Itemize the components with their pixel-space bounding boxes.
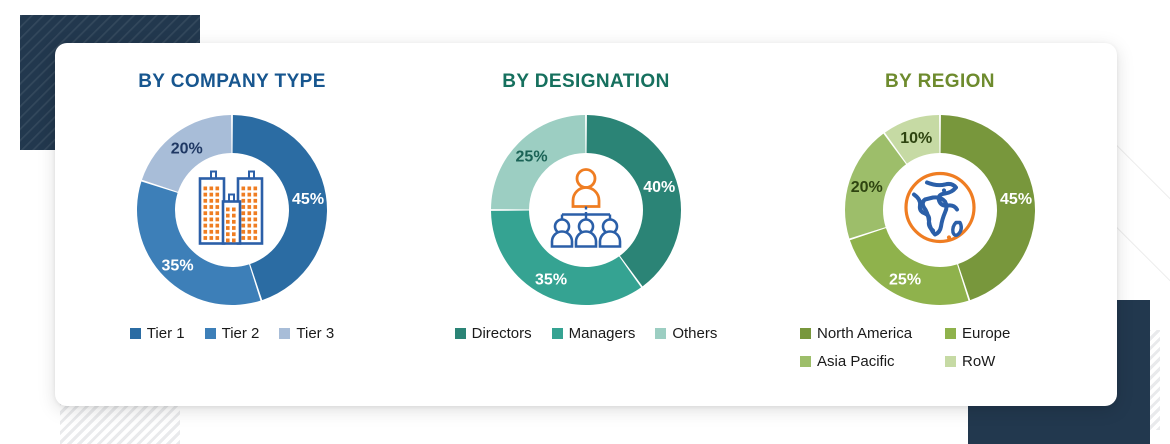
legend-swatch-icon	[945, 356, 956, 367]
legend-swatch-icon	[552, 328, 563, 339]
slice-percent-label: 40%	[643, 179, 675, 196]
legend-item[interactable]: Tier 1	[130, 325, 185, 342]
donut-slice[interactable]	[587, 115, 681, 286]
slice-percent-label: 25%	[516, 149, 548, 166]
legend-label: Asia Pacific	[817, 353, 895, 370]
legend-swatch-icon	[655, 328, 666, 339]
legend-swatch-icon	[800, 356, 811, 367]
legend-item[interactable]: RoW	[945, 353, 1080, 370]
legend-item[interactable]: Others	[655, 325, 717, 342]
chart-legend: North AmericaEuropeAsia PacificRoW	[795, 325, 1085, 370]
slice-percent-label: 35%	[162, 257, 194, 274]
chart-panel-3: BY REGION45%25%20%10% North AmericaEurop…	[763, 43, 1117, 406]
panels-row: BY COMPANY TYPE45%35%20% Tier 1Tier 2Tie…	[55, 43, 1117, 406]
panel-title: BY REGION	[885, 71, 995, 93]
slice-percent-label: 10%	[900, 130, 932, 147]
legend-swatch-icon	[455, 328, 466, 339]
legend-label: Tier 3	[296, 325, 334, 342]
slice-percent-label: 45%	[1000, 191, 1032, 208]
legend-swatch-icon	[205, 328, 216, 339]
slice-percent-label: 20%	[171, 141, 203, 158]
donut-slice[interactable]	[850, 228, 969, 305]
donut-chart: 45%35%20%	[129, 107, 335, 313]
donut-chart: 45%25%20%10%	[837, 107, 1043, 313]
legend-label: RoW	[962, 353, 995, 370]
legend-swatch-icon	[130, 328, 141, 339]
legend-swatch-icon	[279, 328, 290, 339]
infographic-canvas: BY COMPANY TYPE45%35%20% Tier 1Tier 2Tie…	[0, 0, 1170, 444]
legend-label: Tier 1	[147, 325, 185, 342]
legend-label: North America	[817, 325, 912, 342]
legend-item[interactable]: Asia Pacific	[800, 353, 935, 370]
slice-percent-label: 35%	[535, 272, 567, 289]
legend-label: Europe	[962, 325, 1010, 342]
content-card: BY COMPANY TYPE45%35%20% Tier 1Tier 2Tie…	[55, 43, 1117, 406]
legend-item[interactable]: Europe	[945, 325, 1080, 342]
slice-percent-label: 25%	[889, 272, 921, 289]
legend-item[interactable]: Directors	[455, 325, 532, 342]
chart-panel-2: BY DESIGNATION40%35%25% DirectorsManager…	[409, 43, 763, 406]
panel-title: BY DESIGNATION	[502, 71, 669, 93]
legend-label: Managers	[569, 325, 636, 342]
donut-slice[interactable]	[137, 182, 260, 305]
legend-item[interactable]: Tier 3	[279, 325, 334, 342]
donut-slice[interactable]	[491, 211, 641, 305]
legend-item[interactable]: Managers	[552, 325, 636, 342]
chart-panel-1: BY COMPANY TYPE45%35%20% Tier 1Tier 2Tie…	[55, 43, 409, 406]
donut-chart: 40%35%25%	[483, 107, 689, 313]
chart-legend: Tier 1Tier 2Tier 3	[130, 325, 334, 342]
slice-percent-label: 45%	[292, 191, 324, 208]
legend-swatch-icon	[945, 328, 956, 339]
legend-label: Tier 2	[222, 325, 260, 342]
panel-title: BY COMPANY TYPE	[138, 71, 326, 93]
legend-item[interactable]: North America	[800, 325, 935, 342]
legend-item[interactable]: Tier 2	[205, 325, 260, 342]
legend-label: Directors	[472, 325, 532, 342]
slice-percent-label: 20%	[851, 179, 883, 196]
legend-swatch-icon	[800, 328, 811, 339]
legend-label: Others	[672, 325, 717, 342]
chart-legend: DirectorsManagersOthers	[455, 325, 718, 342]
